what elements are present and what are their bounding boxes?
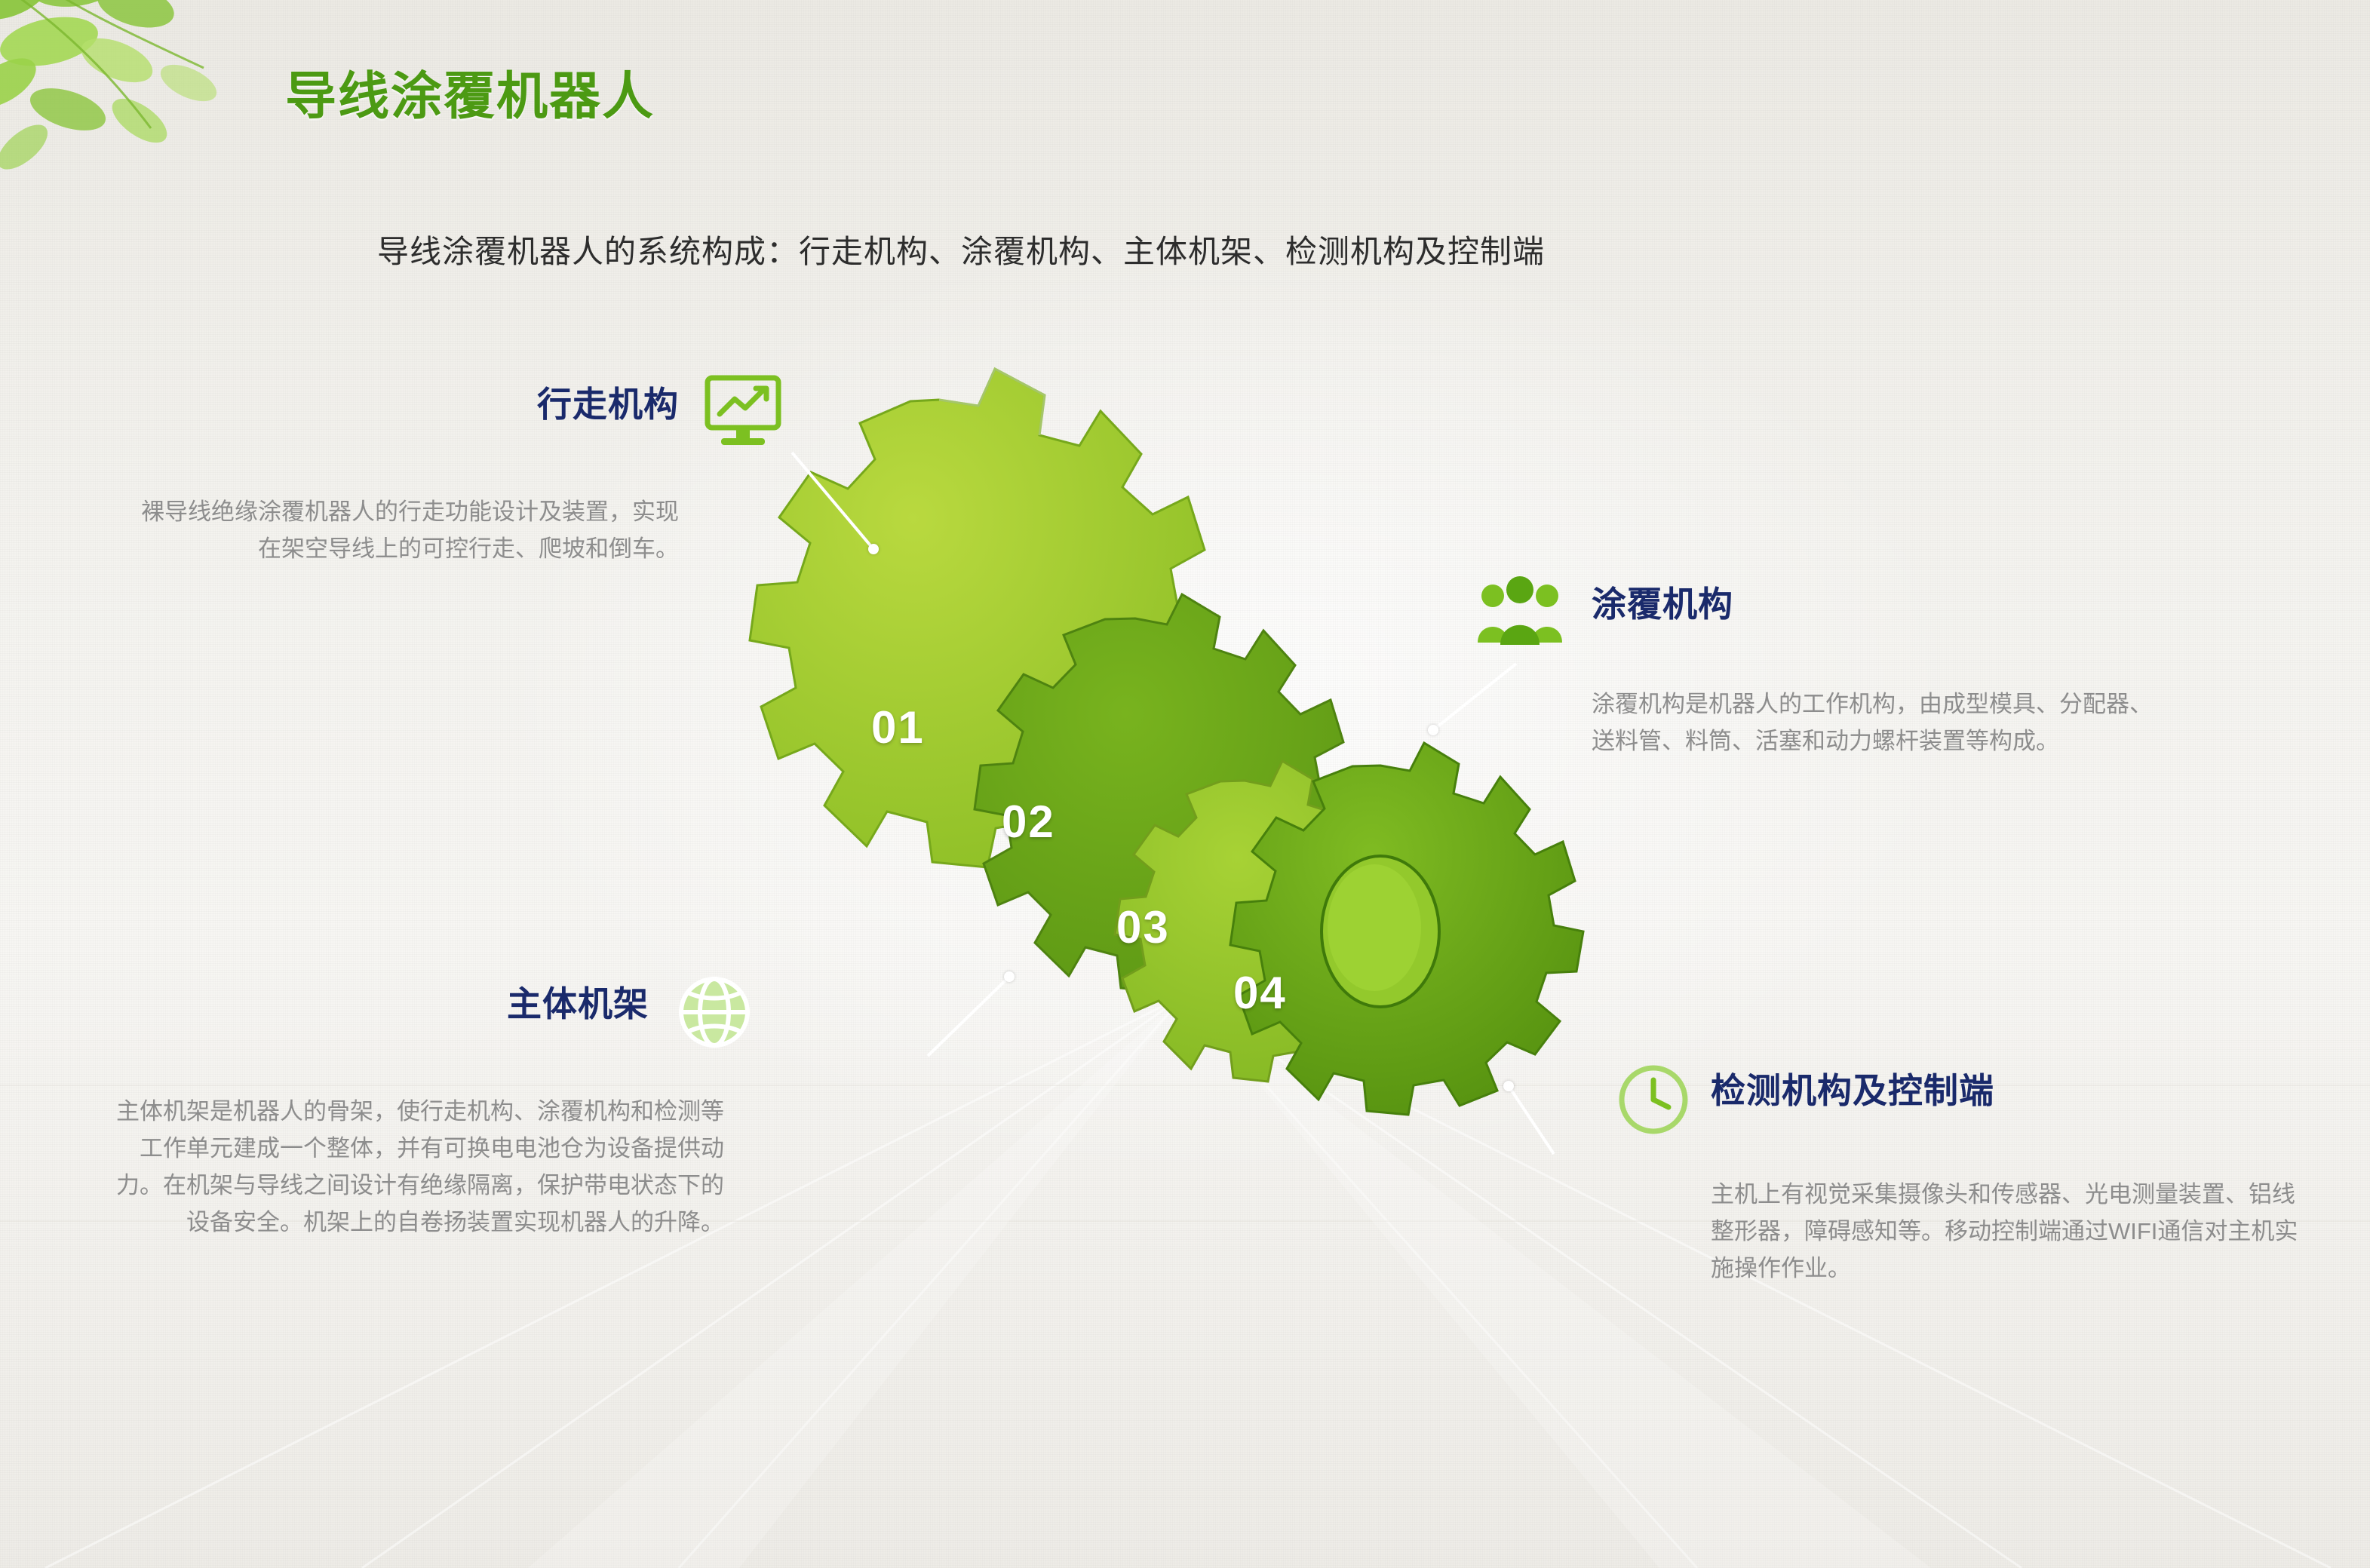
page-subtitle: 导线涂覆机器人的系统构成：行走机构、涂覆机构、主体机架、检测机构及控制端 (377, 226, 1545, 272)
leader-dot-02 (1428, 725, 1438, 735)
section-body-01: 裸导线绝缘涂覆机器人的行走功能设计及装置，实现在架空导线上的可控行走、爬坡和倒车… (121, 494, 679, 568)
leader-dot-01 (868, 544, 879, 554)
section-body-04: 主机上有视觉采集摄像头和传感器、光电测量装置、铝线整形器，障碍感知等。移动控制端… (1711, 1177, 2307, 1287)
section-title-01: 行走机构 (256, 377, 679, 427)
gear-number-02: 02 (1002, 796, 1055, 848)
section-title-02: 涂覆机构 (1592, 577, 2120, 627)
gear-number-01: 01 (871, 701, 925, 753)
leaf-decoration (0, 0, 302, 241)
section-title-04: 检测机构及控制端 (1711, 1063, 2370, 1113)
leader-dot-04 (1503, 1081, 1514, 1091)
gear-cluster-illustration (701, 324, 1644, 1267)
page-title: 导线涂覆机器人 (285, 54, 655, 129)
section-title-03: 主体机架 (249, 977, 649, 1026)
section-body-03: 主体机架是机器人的骨架，使行走机构、涂覆机构和检测等工作单元建成一个整体，并有可… (106, 1094, 724, 1241)
gear-number-03: 03 (1116, 901, 1170, 953)
section-body-02: 涂覆机构是机器人的工作机构，由成型模具、分配器、送料管、料筒、活塞和动力螺杆装置… (1592, 686, 2165, 760)
gear-number-04: 04 (1233, 967, 1287, 1019)
leader-dot-03 (1004, 971, 1015, 982)
slide-canvas: 导线涂覆机器人 导线涂覆机器人的系统构成：行走机构、涂覆机构、主体机架、检测机构… (0, 0, 2370, 1568)
